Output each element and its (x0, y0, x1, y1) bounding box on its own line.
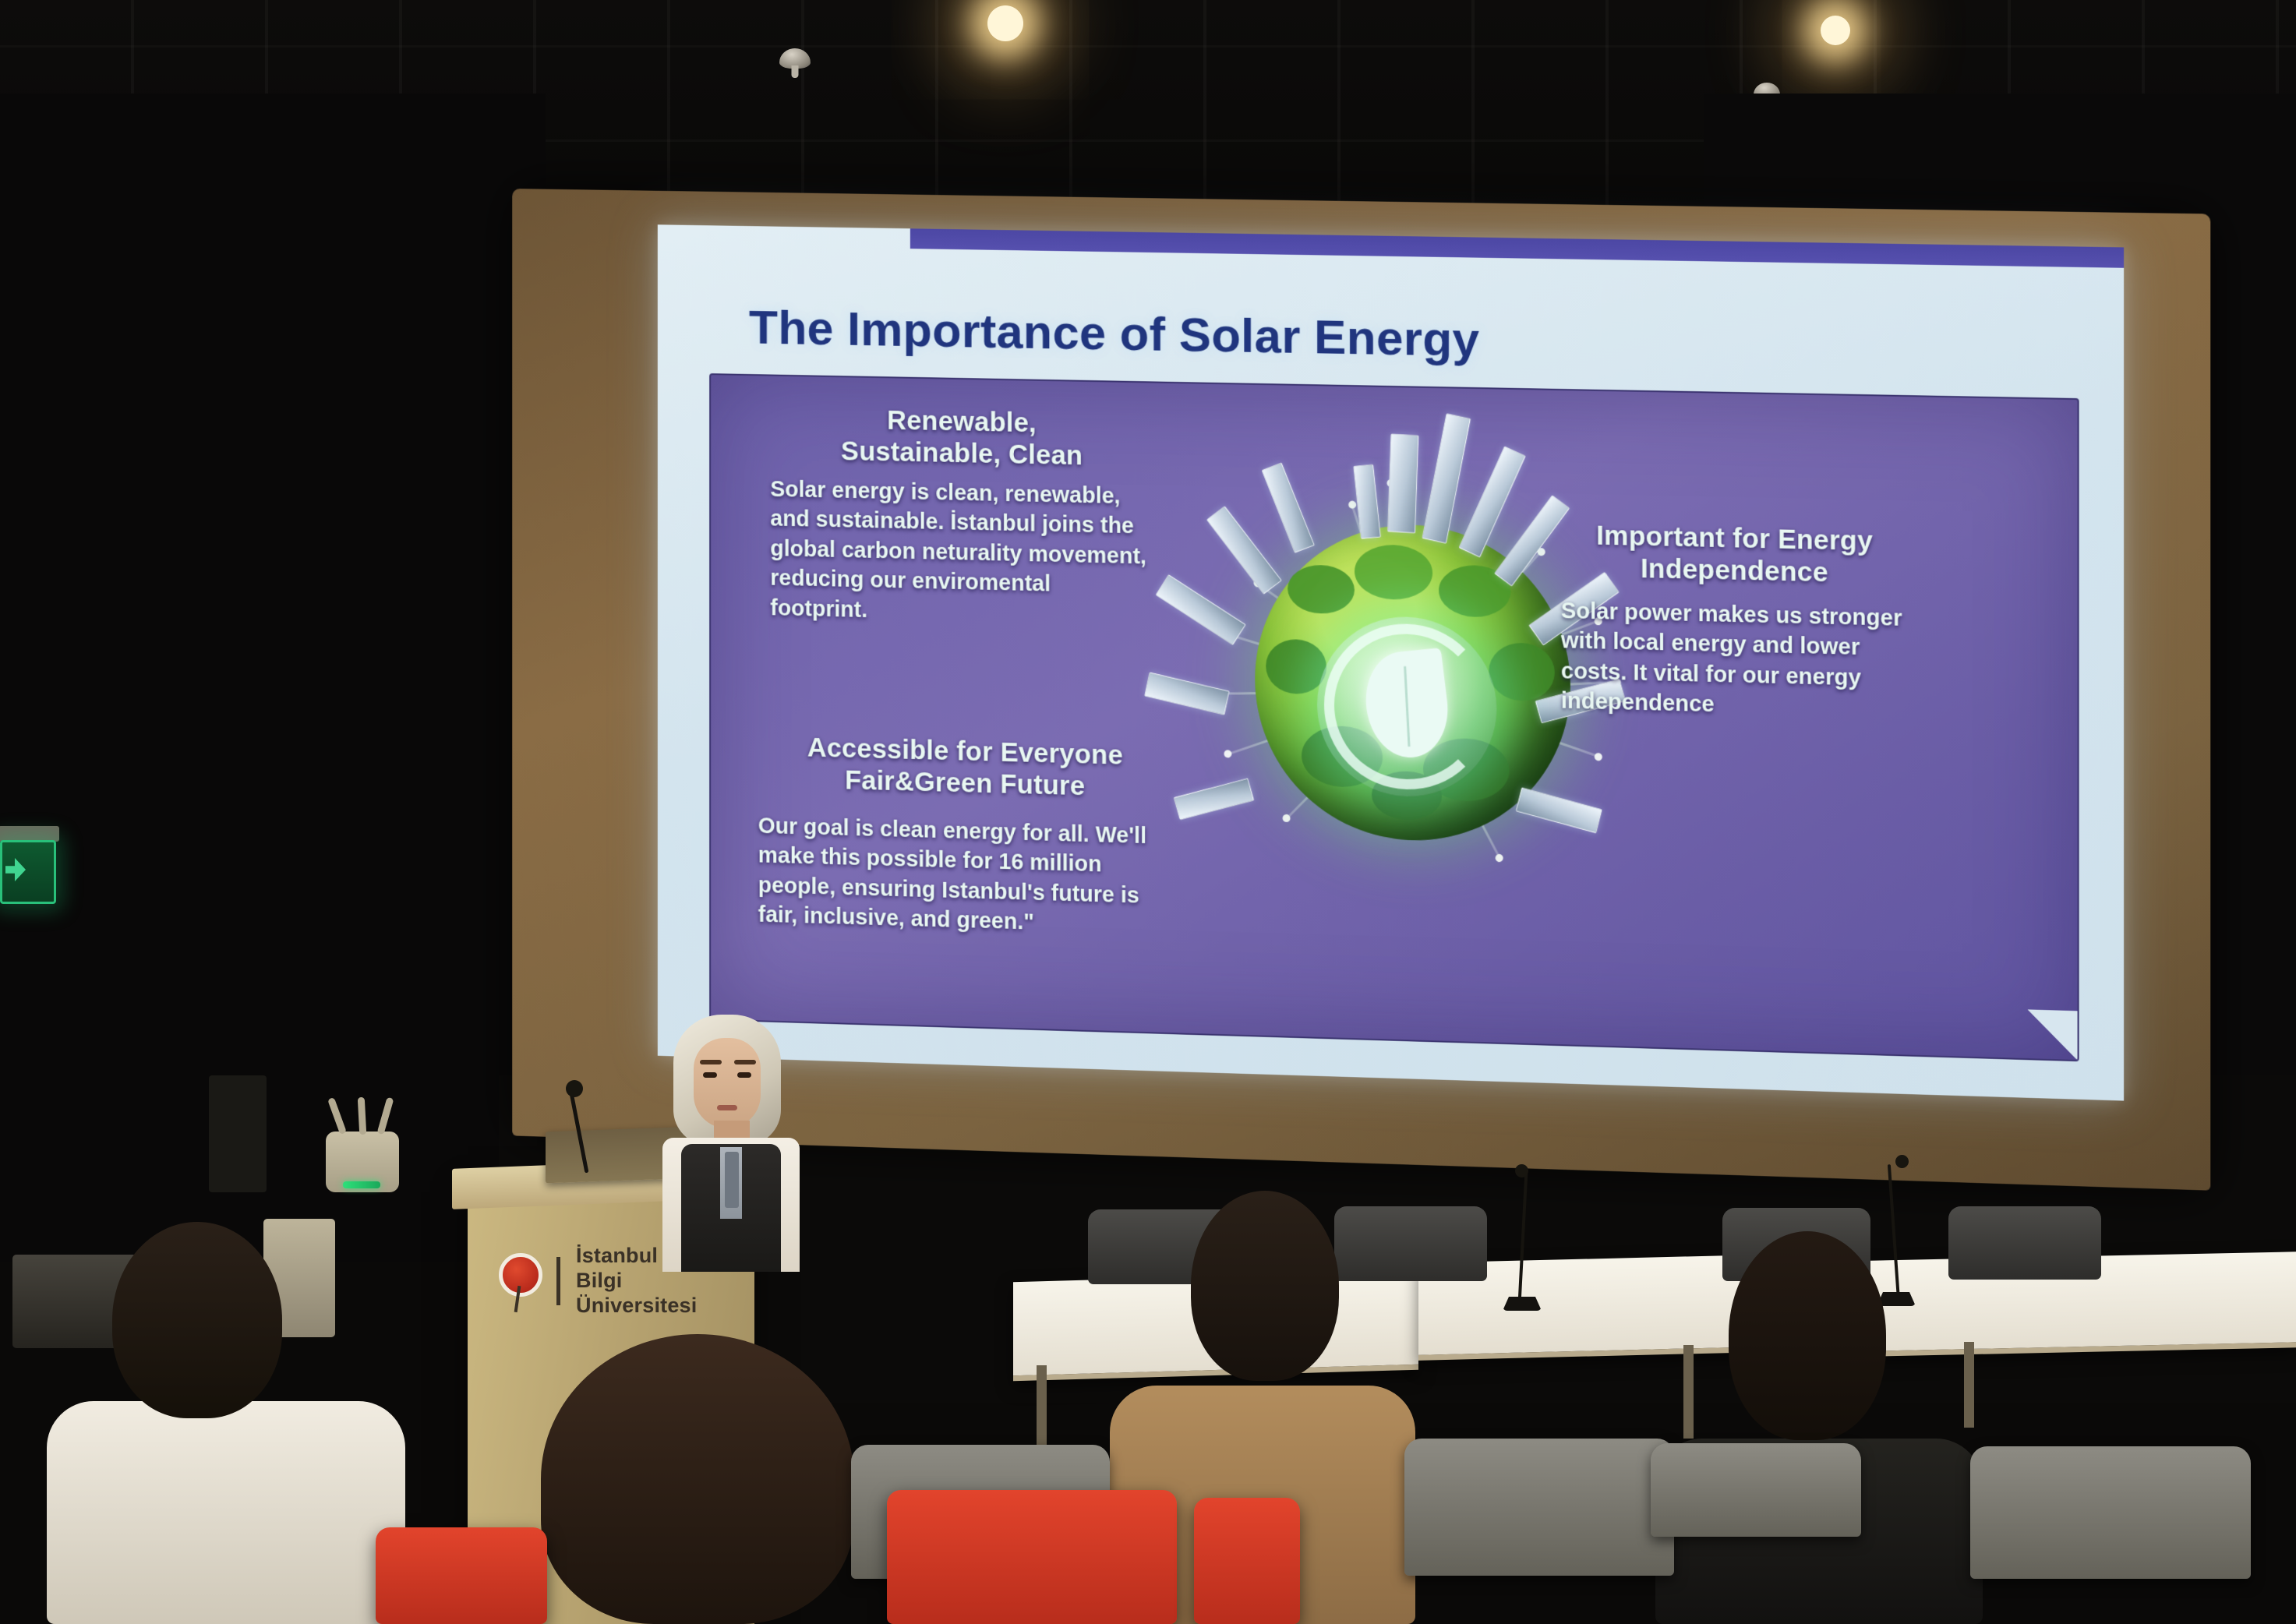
presenter-eye (737, 1072, 751, 1078)
bilgi-pin-icon (496, 1248, 541, 1314)
auditorium-seat (1404, 1439, 1674, 1576)
block-body: Solar power makes us stronger with local… (1561, 596, 1909, 726)
wifi-access-point-icon (326, 1132, 399, 1192)
slide-title: The Importance of Solar Energy (749, 300, 1996, 377)
microphone-capsule (1895, 1155, 1909, 1168)
logo-divider (556, 1257, 560, 1305)
microphone-base (1503, 1297, 1542, 1311)
exit-sign-housing (0, 826, 59, 842)
presenter (645, 1015, 825, 1272)
presenter-eyebrow (734, 1060, 756, 1064)
ceiling-spotlight (1808, 3, 1863, 58)
institution-name-line2: Bilgi Üniversitesi (576, 1269, 737, 1319)
microphone-capsule (1515, 1164, 1528, 1177)
microphone-base (1877, 1292, 1916, 1306)
audience-member-head (1729, 1231, 1886, 1440)
audience-member-head (1191, 1191, 1339, 1381)
panel-chair (1948, 1206, 2101, 1280)
slide-block-accessible: Accessible for Everyone Fair&Green Futur… (758, 730, 1173, 941)
slide-block-renewable: Renewable, Sustainable, Clean Solar ener… (770, 402, 1154, 632)
audience-member-body (47, 1401, 405, 1624)
presentation-slide: The Importance of Solar Energy (658, 224, 2124, 1100)
auditorium-seat-red (376, 1527, 547, 1624)
auditorium-seat (1651, 1443, 1861, 1537)
slide-content-panel: Renewable, Sustainable, Clean Solar ener… (709, 373, 2079, 1061)
auditorium-seat-red (1194, 1498, 1300, 1624)
emergency-exit-icon (0, 840, 56, 904)
podium-microphone-capsule (566, 1080, 583, 1097)
block-body: Solar energy is clean, renewable, and su… (770, 475, 1154, 632)
block-heading-line2: Sustainable, Clean (770, 434, 1154, 474)
wall-speaker (209, 1075, 267, 1192)
table-leg (1964, 1342, 1974, 1428)
presenter-necktie (725, 1152, 739, 1208)
presenter-eyebrow (700, 1060, 722, 1064)
auditorium-scene: The Importance of Solar Energy (0, 0, 2296, 1624)
slide-accent-bar (910, 228, 2124, 268)
presenter-eye (703, 1072, 717, 1078)
auditorium-seat (1970, 1446, 2251, 1579)
block-body: Our goal is clean energy for all. We'll … (758, 811, 1173, 942)
skyscraper (1387, 433, 1418, 533)
auditorium-seat-red (887, 1490, 1177, 1624)
audience-member-head (541, 1334, 854, 1624)
audience-member-head (112, 1222, 282, 1418)
slide-block-energy-independence: Important for Energy Independence Solar … (1561, 519, 1909, 726)
table-leg (1683, 1345, 1694, 1439)
presenter-face (694, 1038, 761, 1128)
left-wall (0, 94, 546, 1262)
presenter-mouth (717, 1105, 737, 1110)
panel-chair (1334, 1206, 1487, 1281)
